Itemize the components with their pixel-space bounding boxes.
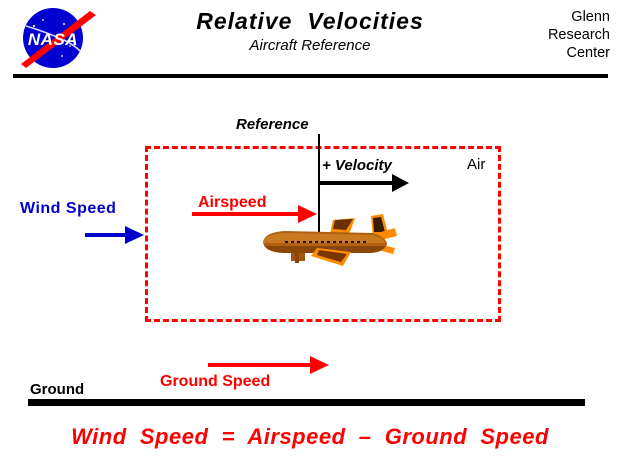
groundspeed-arrow xyxy=(208,363,312,367)
nasa-logo-icon: NASA xyxy=(12,6,102,70)
groundspeed-label: Ground Speed xyxy=(160,373,270,391)
header-divider xyxy=(13,74,608,78)
reference-label: Reference xyxy=(236,116,309,133)
velocity-arrow xyxy=(320,181,394,185)
velocity-equation: Wind Speed = Airspeed – Ground Speed xyxy=(0,424,620,450)
velocity-arrow-head-icon xyxy=(392,174,409,192)
page-title: Relative Velocities xyxy=(140,8,480,34)
windspeed-arrow xyxy=(85,233,127,237)
ground-line xyxy=(28,399,585,406)
svg-text:NASA: NASA xyxy=(28,30,78,49)
center-line-3: Center xyxy=(500,44,610,62)
windspeed-label: Wind Speed xyxy=(20,200,116,218)
slide-canvas: NASA Relative Velocities Aircraft Refere… xyxy=(0,0,620,466)
positive-velocity-label: + Velocity xyxy=(322,157,392,174)
air-label: Air xyxy=(467,156,485,173)
page-subtitle: Aircraft Reference xyxy=(140,36,480,56)
aircraft-icon xyxy=(255,208,397,270)
groundspeed-arrow-head-icon xyxy=(310,356,329,374)
title-block: Relative Velocities Aircraft Reference xyxy=(140,8,480,56)
ground-label: Ground xyxy=(30,381,84,398)
center-line-2: Research xyxy=(500,26,610,44)
windspeed-arrow-head-icon xyxy=(125,226,144,244)
center-line-1: Glenn xyxy=(500,8,610,26)
research-center-name: Glenn Research Center xyxy=(500,8,610,62)
